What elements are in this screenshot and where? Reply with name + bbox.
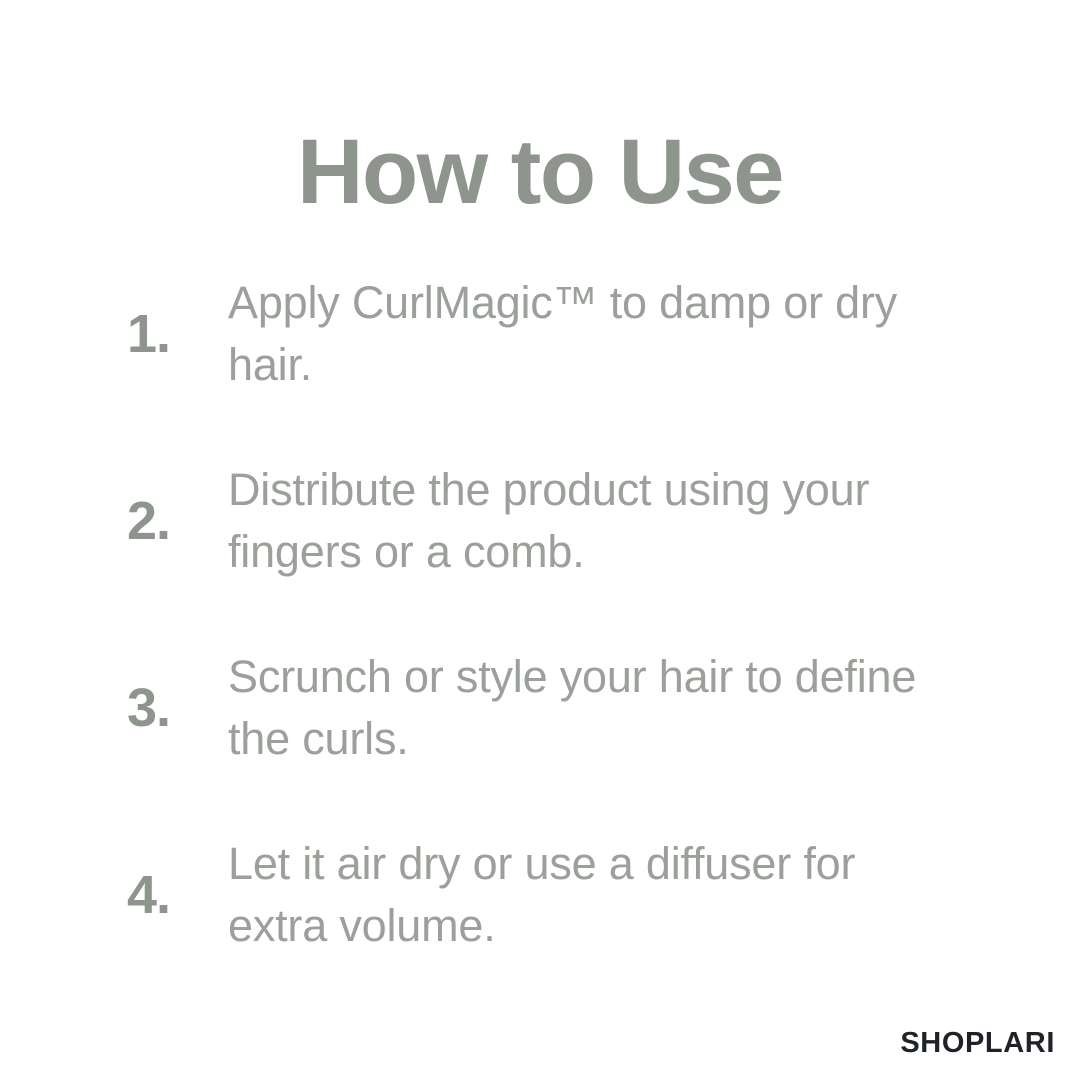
list-item: 2. Distribute the product using your fin… — [0, 445, 1080, 597]
list-item: 3. Scrunch or style your hair to define … — [0, 632, 1080, 784]
how-to-use-poster: How to Use 1. Apply CurlMagic™ to damp o… — [0, 0, 1080, 1080]
step-text: Scrunch or style your hair to define the… — [172, 646, 962, 770]
step-text: Let it air dry or use a diffuser for ext… — [172, 833, 962, 957]
step-number: 1. — [0, 307, 172, 361]
steps-list: 1. Apply CurlMagic™ to damp or dry hair.… — [0, 258, 1080, 1006]
brand-wordmark: SHOPLARI — [900, 1029, 1055, 1058]
list-item: 1. Apply CurlMagic™ to damp or dry hair. — [0, 258, 1080, 410]
step-text: Apply CurlMagic™ to damp or dry hair. — [172, 272, 962, 396]
step-number: 3. — [0, 681, 172, 735]
step-text: Distribute the product using your finger… — [172, 459, 962, 583]
list-item: 4. Let it air dry or use a diffuser for … — [0, 819, 1080, 971]
step-number: 2. — [0, 494, 172, 548]
step-number: 4. — [0, 868, 172, 922]
page-title: How to Use — [0, 124, 1080, 221]
